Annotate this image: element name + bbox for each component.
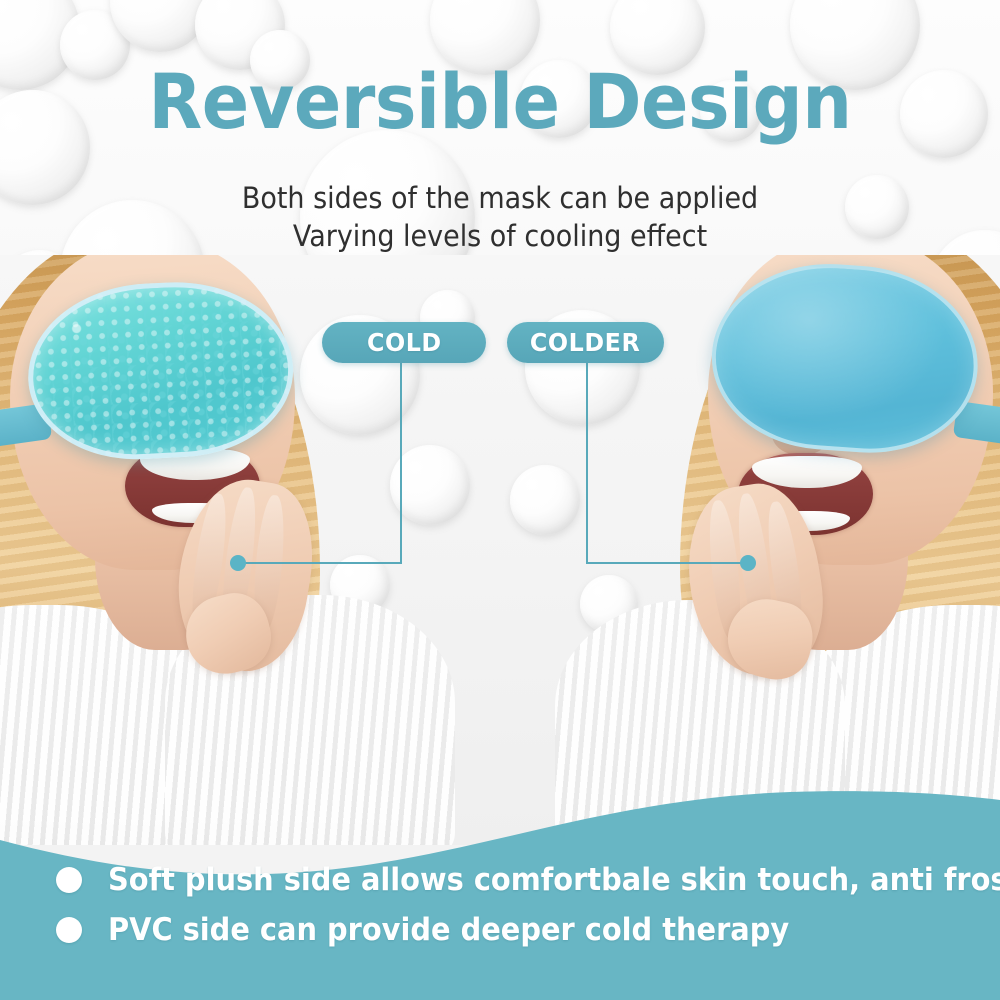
subtitle-line-2: Varying levels of cooling effect bbox=[35, 218, 965, 254]
list-item: Soft plush side allows comfortbale skin … bbox=[56, 862, 1000, 898]
badge-cold-label: COLD bbox=[367, 328, 442, 357]
bullet-text-2: PVC side can provide deeper cold therapy bbox=[108, 912, 789, 948]
product-photo-pair bbox=[0, 255, 1000, 845]
subtitle-line-1: Both sides of the mask can be applied bbox=[35, 180, 965, 216]
footer-bullet-list: Soft plush side allows comfortbale skin … bbox=[0, 850, 1000, 1000]
bullet-dot-icon bbox=[56, 867, 82, 893]
list-item: PVC side can provide deeper cold therapy bbox=[56, 912, 840, 948]
badge-colder[interactable]: COLDER bbox=[507, 322, 664, 363]
bullet-text-1: Soft plush side allows comfortbale skin … bbox=[108, 862, 1000, 898]
page-title: Reversible Design bbox=[40, 60, 960, 144]
badge-cold[interactable]: COLD bbox=[322, 322, 486, 363]
badge-colder-label: COLDER bbox=[530, 328, 640, 357]
bullet-dot-icon bbox=[56, 917, 82, 943]
product-infographic: Reversible Design Both sides of the mask… bbox=[0, 0, 1000, 1000]
